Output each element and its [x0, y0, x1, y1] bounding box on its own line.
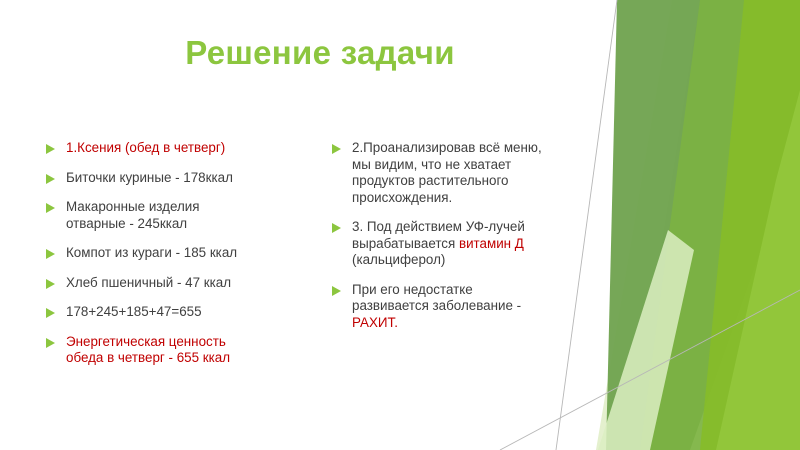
triangle-right-icon — [46, 203, 55, 213]
list-item: 2.Проанализировав всё меню, мы видим, чт… — [332, 140, 608, 206]
triangle-right-icon — [332, 286, 341, 296]
list-item-text: Хлеб пшеничный - 47 ккал — [66, 275, 314, 292]
list-item-text: 2.Проанализировав всё меню, мы видим, чт… — [352, 140, 608, 206]
emphasized-text-run: РАХИТ. — [352, 315, 398, 330]
list-item: 3. Под действием УФ-лучей вырабатывается… — [332, 219, 608, 269]
list-item-text: 3. Под действием УФ-лучей вырабатывается… — [352, 219, 608, 269]
triangle-right-icon — [46, 144, 55, 154]
list-item-text: 1.Ксения (обед в четверг) — [66, 140, 314, 157]
text-run: (кальциферол) — [352, 252, 445, 267]
list-item-text: 178+245+185+47=655 — [66, 304, 314, 321]
decor-polygon-bright — [700, 0, 800, 450]
triangle-right-icon — [46, 338, 55, 348]
list-item-text: При его недостатке развивается заболеван… — [352, 282, 608, 332]
list-item: Макаронные изделия отварные - 245ккал — [46, 199, 314, 232]
page-title: Решение задачи — [60, 34, 580, 72]
presentation-slide: Решение задачи 1.Ксения (обед в четверг)… — [0, 0, 800, 450]
decor-polygon-dark — [606, 0, 800, 450]
list-item: 178+245+185+47=655 — [46, 304, 314, 321]
decor-polygon-light — [716, 90, 800, 450]
triangle-right-icon — [46, 308, 55, 318]
text-run: При его недостатке развивается заболеван… — [352, 282, 521, 314]
text-run: 2.Проанализировав всё меню, мы видим, чт… — [352, 140, 542, 205]
bullet-list-left: 1.Ксения (обед в четверг) Биточки курины… — [46, 140, 314, 380]
triangle-right-icon — [46, 279, 55, 289]
decor-polygon-mid — [640, 0, 800, 450]
triangle-right-icon — [46, 174, 55, 184]
decor-polygon-pale-b — [630, 0, 760, 450]
list-item: Биточки куриные - 178ккал — [46, 170, 314, 187]
triangle-right-icon — [46, 249, 55, 259]
list-item: Компот из кураги - 185 ккал — [46, 245, 314, 262]
triangle-right-icon — [332, 223, 341, 233]
triangle-right-icon — [332, 144, 341, 154]
list-item-text: Энергетическая ценность обеда в четверг … — [66, 334, 314, 367]
list-item: Энергетическая ценность обеда в четверг … — [46, 334, 314, 367]
list-item: 1.Ксения (обед в четверг) — [46, 140, 314, 157]
list-item: При его недостатке развивается заболеван… — [332, 282, 608, 332]
emphasized-text-run: витамин Д — [459, 236, 524, 251]
bullet-list-right: 2.Проанализировав всё меню, мы видим, чт… — [332, 140, 608, 344]
decor-polygon-pale-c — [598, 230, 694, 450]
decor-polygon-pale-a — [596, 0, 720, 450]
list-item-text: Компот из кураги - 185 ккал — [66, 245, 314, 262]
list-item-text: Биточки куриные - 178ккал — [66, 170, 314, 187]
list-item-text: Макаронные изделия отварные - 245ккал — [66, 199, 314, 232]
list-item: Хлеб пшеничный - 47 ккал — [46, 275, 314, 292]
